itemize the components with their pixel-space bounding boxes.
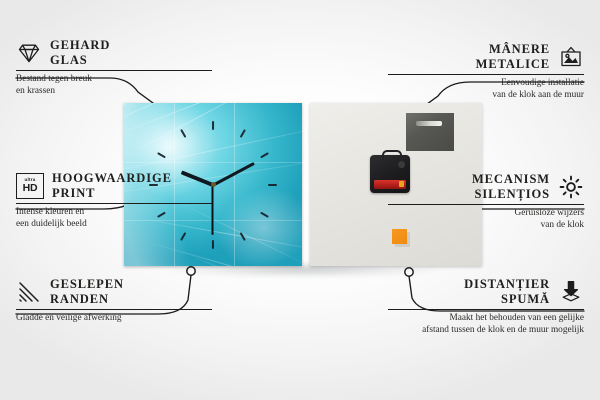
feature-gehard-glas: GEHARDGLAS Bestand tegen breuken krassen (16, 38, 212, 97)
ultra-hd-icon-hd-text: HD (23, 183, 38, 194)
divider (388, 74, 584, 75)
feature-desc: Eenvoudige installatievan de klok aan de… (388, 78, 584, 101)
feature-title: HOOGWAARDIGEPRINT (52, 171, 172, 200)
feature-title: MECANISMSILENȚIOS (472, 172, 550, 201)
feature-desc: Geruisloze wijzersvan de klok (388, 208, 584, 231)
divider (388, 309, 584, 310)
wall-mount-icon (558, 44, 584, 70)
diamond-icon (16, 40, 42, 66)
feature-geslepen-randen: GESLEPENRANDEN Gladde en veilige afwerki… (16, 277, 212, 325)
gear-icon (558, 174, 584, 200)
infographic-canvas: GEHARDGLAS Bestand tegen breuken krassen… (0, 0, 600, 400)
feature-title: GEHARDGLAS (50, 38, 110, 67)
feature-manere-metalice: MÂNEREMETALICE Eenvoudige installatievan… (388, 42, 584, 101)
feature-hoogwaardige-print: ultra HD HOOGWAARDIGEPRINT Intense kleur… (16, 171, 212, 230)
divider (16, 70, 212, 71)
ultra-hd-icon: ultra HD (16, 173, 44, 199)
feature-title: DISTANȚIERSPUMĂ (464, 277, 550, 306)
feature-desc: Bestand tegen breuken krassen (16, 74, 212, 97)
beveled-edges-icon (16, 279, 42, 305)
feature-desc: Maakt het behouden van een gelijkeafstan… (388, 313, 584, 336)
orange-foam-spacer (392, 229, 407, 244)
feature-title: MÂNEREMETALICE (476, 42, 550, 71)
divider (388, 204, 584, 205)
feature-title: GESLEPENRANDEN (50, 277, 124, 306)
feature-mecanism-silentios: MECANISMSILENȚIOS Geruisloze wijzersvan … (388, 172, 584, 231)
metal-hanger-plate (406, 113, 454, 151)
feature-desc: Intense kleuren eneen duidelijk beeld (16, 207, 212, 230)
setting-knob (398, 161, 405, 168)
hanger-keyhole-slot (416, 121, 442, 126)
hanger-loop (382, 150, 402, 160)
divider (16, 309, 212, 310)
feature-desc: Gladde en veilige afwerking (16, 313, 212, 325)
feature-distantier-spuma: DISTANȚIERSPUMĂ Maakt het behouden van e… (388, 277, 584, 336)
spacer-down-arrow-icon (558, 279, 584, 305)
divider (16, 203, 212, 204)
